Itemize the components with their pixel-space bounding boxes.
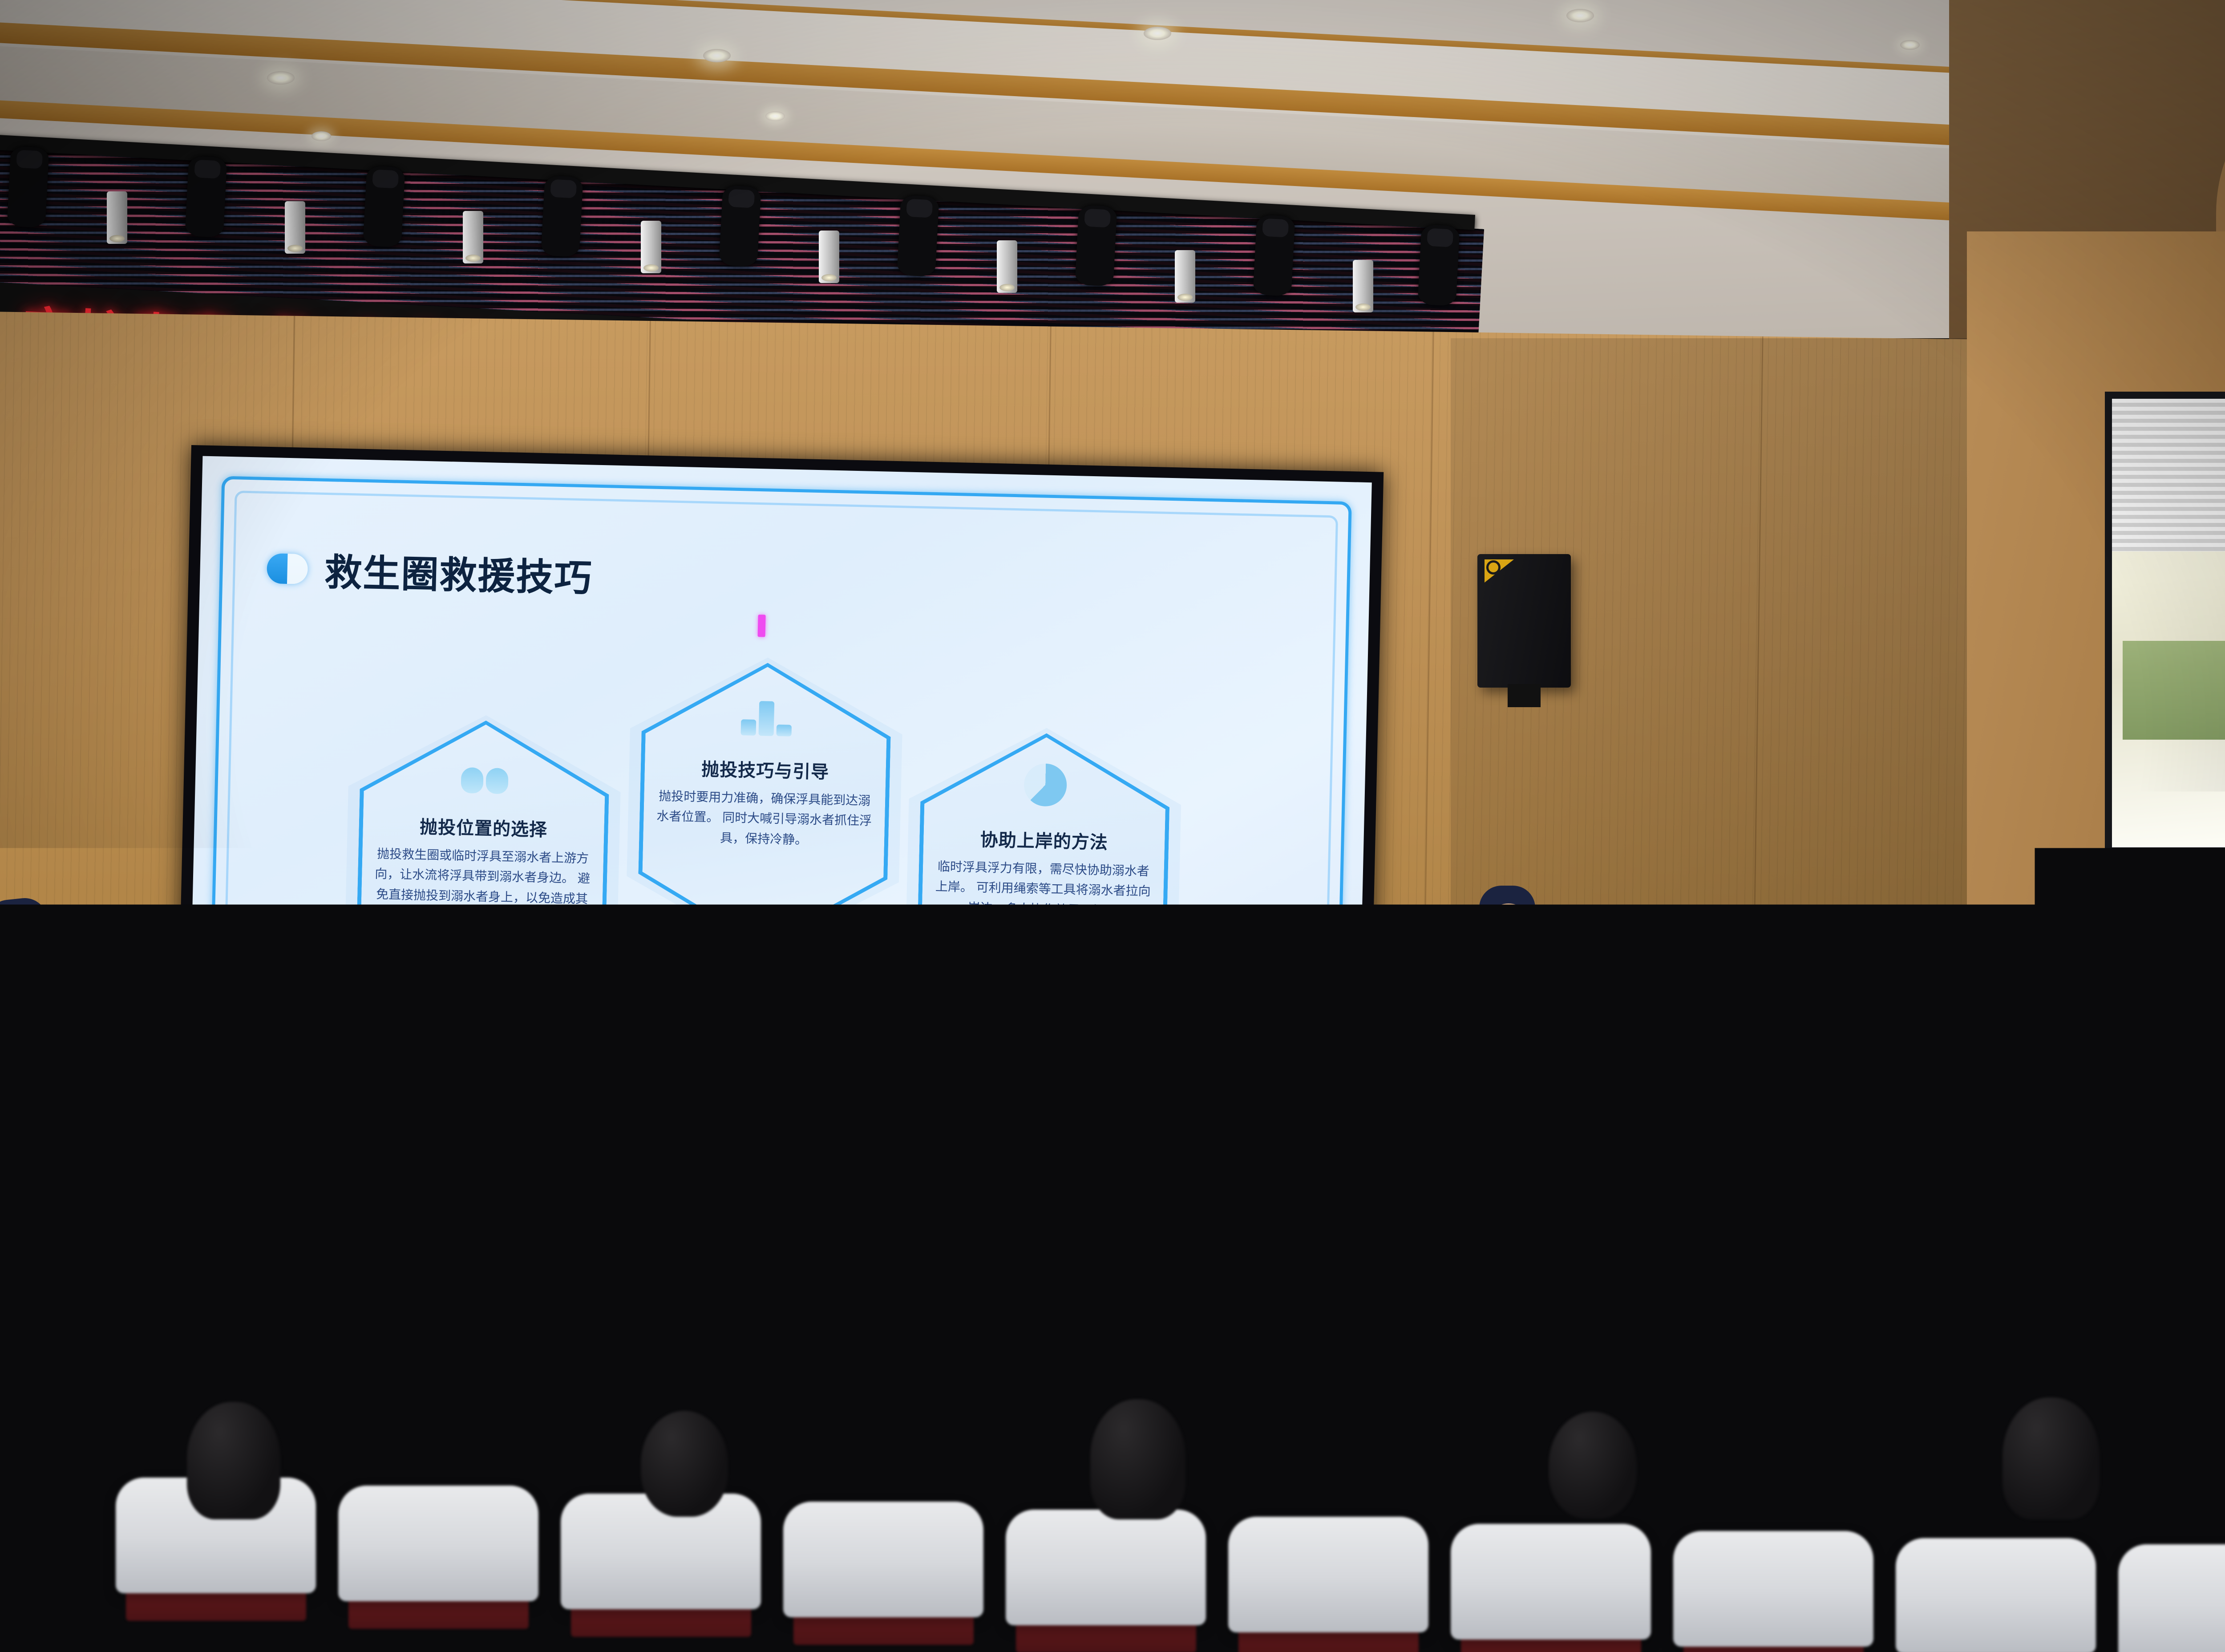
audience-seating	[0, 1139, 2225, 1652]
audience-head	[756, 1329, 823, 1407]
audience-head	[877, 1251, 933, 1315]
seat	[2118, 1544, 2225, 1652]
audience-head	[1090, 1399, 1185, 1519]
audience-head	[1549, 1412, 1637, 1518]
toggle-pill-icon	[267, 553, 308, 584]
window-sill	[2094, 854, 2225, 860]
audience-head	[2002, 1397, 2100, 1519]
pendant-spotlight	[819, 231, 839, 283]
audience-head	[1166, 1245, 1226, 1319]
ceiling-downlight	[703, 49, 731, 62]
audience-head	[641, 1411, 728, 1517]
hex-card-3-body: 临时浮具浮力有限，需尽快协助溺水者上岸。 可利用绳索等工具将溺水者拉向岸边，多人…	[933, 856, 1153, 922]
audience-head	[1802, 1318, 1877, 1411]
seat	[1896, 1538, 2096, 1652]
audience-head	[1718, 1186, 1769, 1242]
hex-card-2[interactable]: 抛投技巧与引导 抛投时要用力准确，确保浮具能到达溺水者位置。 同时大喊引导溺水者…	[637, 660, 892, 951]
seat	[961, 1300, 1090, 1374]
seat	[1215, 1405, 1371, 1497]
stage-par-light	[185, 156, 227, 238]
audience-head	[2127, 1331, 2194, 1409]
ceiling-downlight	[267, 71, 295, 85]
seat	[1228, 1517, 1428, 1632]
stage-par-light	[1417, 224, 1460, 306]
audience-head	[187, 1402, 280, 1519]
seat	[1388, 1411, 1544, 1502]
seat	[338, 1486, 538, 1601]
slide-title-row: 救生圈救援技巧	[266, 541, 593, 603]
podium-school-pinyin: WU HAN CHENG SHI ZHI YE XUE YUAN FU SHU …	[1628, 1065, 1776, 1081]
audience-head	[1460, 1251, 1517, 1316]
seat	[890, 1163, 983, 1216]
pendant-spotlight	[107, 191, 127, 244]
stage-par-light	[897, 195, 939, 277]
ceiling-downlight	[311, 131, 331, 141]
seat	[783, 1502, 983, 1617]
audience-head	[1273, 1139, 1317, 1186]
seat	[1286, 1228, 1393, 1291]
pendant-spotlight	[285, 201, 305, 254]
podium-laptop[interactable]	[1649, 956, 1760, 985]
hex-card-3[interactable]: 协助上岸的方法 临时浮具浮力有限，需尽快协助溺水者上岸。 可利用绳索等工具将溺水…	[915, 730, 1171, 1021]
seat	[868, 1394, 1023, 1486]
seat	[1037, 1223, 1144, 1285]
audience-head	[1753, 1243, 1816, 1320]
audience-head	[1460, 1179, 1515, 1246]
speaker-bracket	[1508, 684, 1541, 707]
ceiling-downlight	[1144, 27, 1171, 40]
seat	[1673, 1531, 1873, 1647]
ceiling-downlight	[1566, 9, 1594, 22]
presentation-slide[interactable]: 救生圈救援技巧 抛投位置的选择 抛投救生圈或临时浮具至溺水者上游方向，让水流将浮…	[189, 456, 1371, 1091]
audience-head	[2002, 1255, 2058, 1317]
life-ring-icon	[360, 748, 610, 797]
ceiling-downlight	[1900, 40, 1920, 50]
speaker-driver-icon	[1486, 560, 1501, 575]
pendant-spotlight	[997, 240, 1017, 293]
audience-head	[1077, 1144, 1118, 1188]
seat	[1451, 1524, 1651, 1640]
audience-head	[975, 1184, 1026, 1244]
stage-par-light	[541, 175, 583, 257]
bar-chart-icon	[642, 690, 892, 739]
ceiling-downlight	[765, 111, 785, 121]
pendant-spotlight	[1175, 250, 1195, 303]
pendant-spotlight	[1353, 260, 1373, 312]
audience-head	[1215, 1188, 1263, 1242]
pendant-spotlight	[641, 221, 661, 273]
assistant-device	[27, 1019, 52, 1034]
seat	[1006, 1510, 1206, 1625]
magenta-accent-tick	[758, 615, 766, 637]
seat	[1735, 1421, 1891, 1513]
slide-title: 救生圈救援技巧	[324, 543, 593, 603]
audience-head	[414, 1322, 485, 1411]
stage-par-light	[1253, 215, 1295, 296]
window-blind[interactable]	[2112, 399, 2225, 551]
wall-speaker	[1477, 554, 1571, 688]
hex-card-1[interactable]: 抛投位置的选择 抛投救生圈或临时浮具至溺水者上游方向，让水流将浮具带到溺水者身边…	[355, 718, 611, 1008]
hex-card-1-body: 抛投救生圈或临时浮具至溺水者上游方向，让水流将浮具带到溺水者身边。 避免直接抛投…	[372, 844, 593, 930]
podium-top-surface	[1612, 984, 1792, 999]
audience-head	[854, 1140, 897, 1186]
seat	[1549, 1316, 1678, 1390]
audience-head	[1108, 1320, 1181, 1411]
auditorium-photo: 守护青春“救”在身边2025年洪山区青少年防溺水应急救护直播课堂	[0, 0, 2225, 1652]
seat	[1255, 1308, 1384, 1383]
audience-head	[1455, 1328, 1523, 1408]
audience-head	[730, 1186, 779, 1239]
projection-screen-frame: 救生圈救援技巧 抛投位置的选择 抛投救生圈或临时浮具至溺水者上游方向，让水流将浮…	[177, 445, 1384, 1104]
stage-par-light	[363, 166, 405, 247]
stage-par-light	[1075, 205, 1117, 287]
audience-head	[587, 1246, 646, 1317]
stage-par-light	[719, 185, 761, 267]
pie-chart-icon	[920, 761, 1170, 809]
pendant-spotlight	[463, 211, 483, 263]
hex-card-2-body: 抛投时要用力准确，确保浮具能到达溺水者位置。 同时大喊引导溺水者抓住浮具，保持冷…	[654, 786, 874, 851]
seat	[1112, 1167, 1206, 1219]
stage-par-light	[7, 146, 49, 228]
window-left	[2105, 392, 2225, 854]
